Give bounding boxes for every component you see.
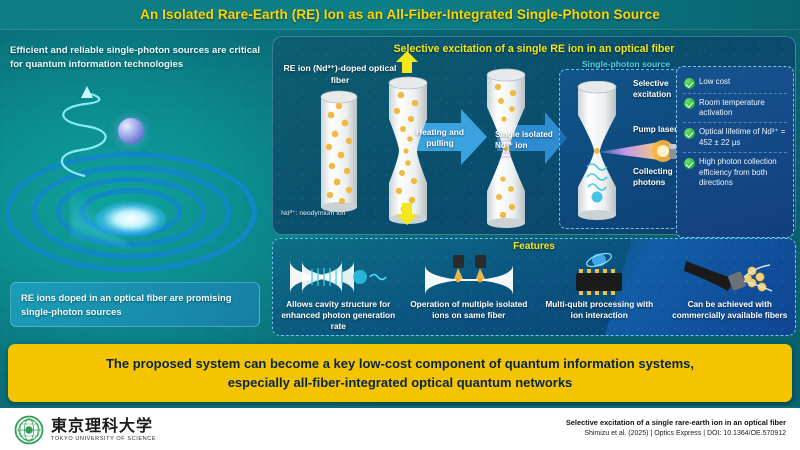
- checklist-item: Optical lifetime of Nd³⁺ = 452 ± 22 µs: [683, 122, 787, 152]
- lead-statement: Efficient and reliable single-photon sou…: [10, 44, 262, 72]
- feature-item: Can be achieved with commercially availa…: [665, 253, 796, 336]
- feature-caption: Can be achieved with commercially availa…: [665, 299, 796, 321]
- feature-item: Allows cavity structure for enhanced pho…: [273, 253, 404, 336]
- left-summary-banner: RE ions doped in an optical fiber are pr…: [10, 282, 260, 327]
- tus-globe-icon: [14, 415, 44, 445]
- conclusion-banner: The proposed system can become a key low…: [8, 344, 792, 402]
- citation: Selective excitation of a single rare-ea…: [566, 418, 786, 437]
- pull-arrow-down-icon: [395, 203, 419, 225]
- infographic-poster: An Isolated Rare-Earth (RE) Ion as an Al…: [0, 0, 800, 450]
- cavity-fiber-icon: [273, 253, 404, 299]
- features-grid: Allows cavity structure for enhanced pho…: [273, 253, 795, 336]
- quantum-emission-illustration: [0, 82, 272, 272]
- left-column: Efficient and reliable single-photon sou…: [0, 30, 272, 335]
- check-icon: [684, 158, 695, 169]
- citation-title: Selective excitation of a single rare-ea…: [566, 418, 786, 427]
- checklist-item-label: High photon collection efficiency from b…: [699, 157, 786, 188]
- spiral-arrow-icon: [41, 84, 133, 180]
- fiber-doped-cylinder: [309, 89, 369, 213]
- check-icon: [684, 128, 695, 139]
- title-bar: An Isolated Rare-Earth (RE) Ion as an Al…: [0, 0, 800, 30]
- dual-laser-fiber-icon: [404, 253, 535, 299]
- checklist-item-label: Optical lifetime of Nd³⁺ = 452 ± 22 µs: [699, 127, 786, 148]
- footer: 東京理科大学 TOKYO UNIVERSITY OF SCIENCE Selec…: [0, 406, 800, 450]
- check-icon: [684, 78, 695, 89]
- nd-footnote: Nd³⁺: neodymium ion: [281, 209, 345, 217]
- features-title: Features: [273, 241, 795, 252]
- qubit-chip-icon: [534, 253, 665, 299]
- feature-item: Operation of multiple isolated ions on s…: [404, 253, 535, 336]
- feature-caption: Operation of multiple isolated ions on s…: [404, 299, 535, 321]
- feature-caption: Allows cavity structure for enhanced pho…: [273, 299, 404, 331]
- checklist-item-label: Room temperature activation: [699, 98, 786, 119]
- feature-item: Multi-qubit processing with ion interact…: [534, 253, 665, 336]
- features-panel: Features Allows: [272, 238, 796, 336]
- main-panel-title: Selective excitation of a single RE ion …: [273, 43, 795, 55]
- page-title: An Isolated Rare-Earth (RE) Ion as an Al…: [140, 7, 660, 22]
- conclusion-line-1: The proposed system can become a key low…: [106, 354, 694, 374]
- benefits-checklist: Low cost Room temperature activation Opt…: [676, 66, 794, 238]
- doped-fiber-label: RE ion (Nd³⁺)-doped optical fiber: [281, 63, 399, 86]
- fiber-cable-icon: [665, 253, 796, 299]
- university-name-en: TOKYO UNIVERSITY OF SCIENCE: [51, 436, 156, 442]
- single-ion-label: Single isolated Nd³⁺ ion: [495, 129, 563, 151]
- conclusion-line-2: especially all-fiber-integrated optical …: [228, 373, 573, 393]
- checklist-item: High photon collection efficiency from b…: [683, 152, 787, 192]
- citation-details: Shimizu et al. (2025) | Optics Express |…: [566, 430, 786, 437]
- sps-title: Single-photon source: [561, 59, 691, 69]
- feature-caption: Multi-qubit processing with ion interact…: [534, 299, 665, 321]
- check-icon: [684, 98, 695, 109]
- checklist-item-label: Low cost: [699, 77, 730, 89]
- heating-pulling-label: Heating and pulling: [409, 127, 471, 150]
- checklist-item: Room temperature activation: [683, 93, 787, 123]
- university-logo: 東京理科大学 TOKYO UNIVERSITY OF SCIENCE: [14, 415, 156, 445]
- checklist-item: Low cost: [683, 73, 787, 93]
- university-name-ja: 東京理科大学: [51, 418, 156, 435]
